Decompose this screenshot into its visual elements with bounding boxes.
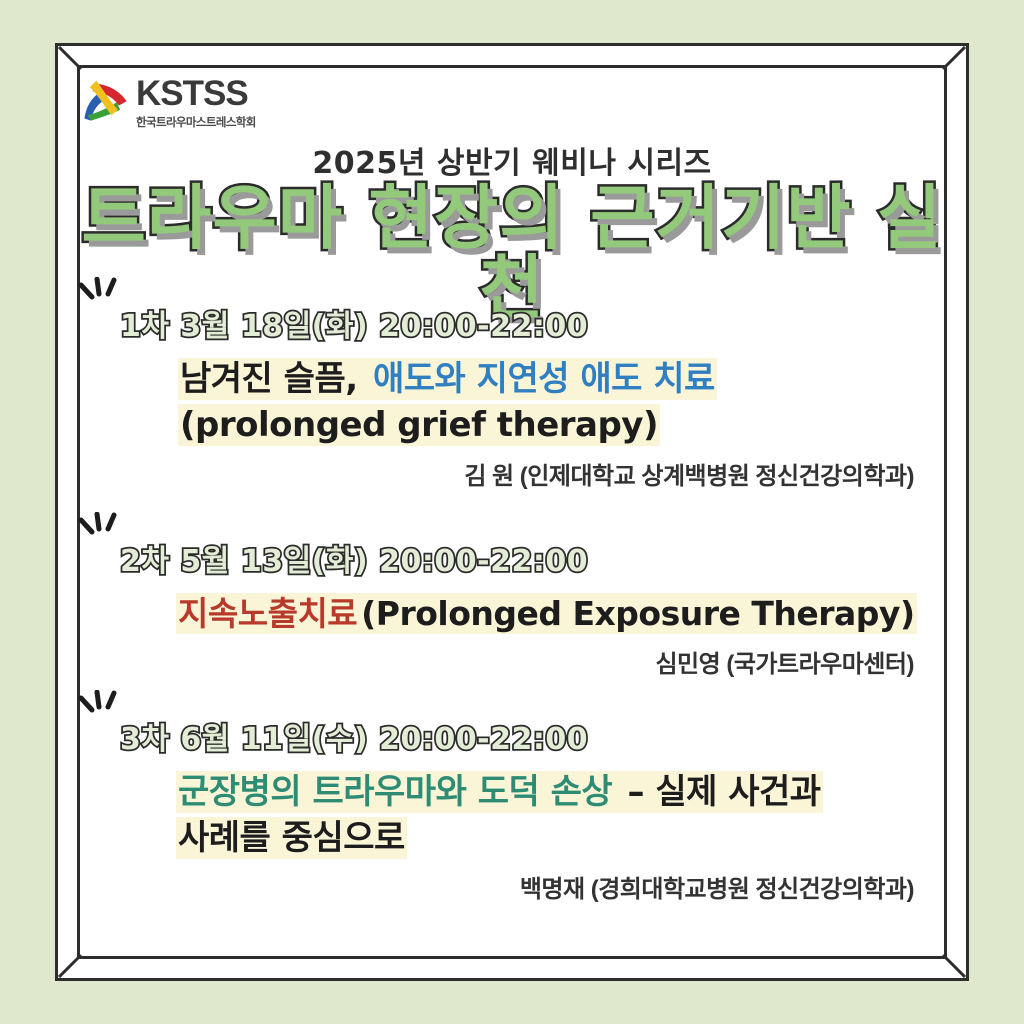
- session-2-date-time: 2차 5월 13일(화) 20:00-22:00: [120, 536, 588, 580]
- session-2-topic-part-a: 지속노출치료: [176, 593, 359, 634]
- session-1-topic-part-c: (prolonged grief therapy): [178, 404, 660, 446]
- session-1-speaker: 김 원 (인제대학교 상계백병원 정신건강의학과): [58, 456, 966, 491]
- sparkle-icon: [78, 690, 124, 724]
- session-1-date-row: 1차 3월 18일(화) 20:00-22:00: [58, 301, 966, 345]
- poster-frame: KSTSS 한국트라우마스트레스학회 2025년 상반기 웨비나 시리즈 트라우…: [55, 43, 969, 981]
- session-1-topic: 남겨진 슬픔, 애도와 지연성 애도 치료 (prolonged grief t…: [58, 357, 966, 448]
- session-3-topic: 군장병의 트라우마와 도덕 손상 – 실제 사건과 사례를 중심으로: [58, 770, 966, 861]
- session-2-topic: 지속노출치료(Prolonged Exposure Therapy): [58, 592, 966, 636]
- sparkle-icon: [78, 277, 124, 311]
- session-3-speaker: 백명재 (경희대학교병원 정신건강의학과): [58, 869, 966, 904]
- session-2-speaker: 심민영 (국가트라우마센터): [58, 644, 966, 679]
- kstss-korean-name: 한국트라우마스트레스학회: [136, 114, 256, 130]
- session-block-3: 3차 6월 11일(수) 20:00-22:00 군장병의 트라우마와 도덕 손…: [58, 714, 966, 904]
- session-2-topic-part-b: (Prolonged Exposure Therapy): [359, 593, 916, 634]
- session-2-date-row: 2차 5월 13일(화) 20:00-22:00: [58, 536, 966, 580]
- session-block-1: 1차 3월 18일(화) 20:00-22:00 남겨진 슬픔, 애도와 지연성…: [58, 301, 966, 491]
- kstss-logo: KSTSS 한국트라우마스트레스학회: [78, 70, 256, 130]
- session-block-2: 2차 5월 13일(화) 20:00-22:00 지속노출치료(Prolonge…: [58, 536, 966, 679]
- session-3-date-row: 3차 6월 11일(수) 20:00-22:00: [58, 714, 966, 758]
- session-1-topic-part-b: 애도와 지연성 애도 치료: [371, 358, 717, 400]
- sparkle-icon: [78, 512, 124, 546]
- session-3-date-time: 3차 6월 11일(수) 20:00-22:00: [120, 714, 588, 758]
- kstss-logo-mark-icon: [78, 72, 132, 126]
- session-3-topic-part-b: – 실제 사건과: [614, 771, 822, 813]
- kstss-logo-text: KSTSS 한국트라우마스트레스학회: [136, 70, 256, 130]
- session-3-topic-part-c: 사례를 중심으로: [176, 817, 407, 859]
- series-subtitle: 2025년 상반기 웨비나 시리즈: [58, 138, 966, 182]
- session-1-topic-part-a: 남겨진 슬픔,: [178, 358, 371, 400]
- kstss-wordmark: KSTSS: [136, 76, 256, 111]
- session-1-date-time: 1차 3월 18일(화) 20:00-22:00: [120, 301, 588, 345]
- session-3-topic-part-a: 군장병의 트라우마와 도덕 손상: [176, 771, 614, 813]
- poster-content: KSTSS 한국트라우마스트레스학회 2025년 상반기 웨비나 시리즈 트라우…: [58, 46, 966, 978]
